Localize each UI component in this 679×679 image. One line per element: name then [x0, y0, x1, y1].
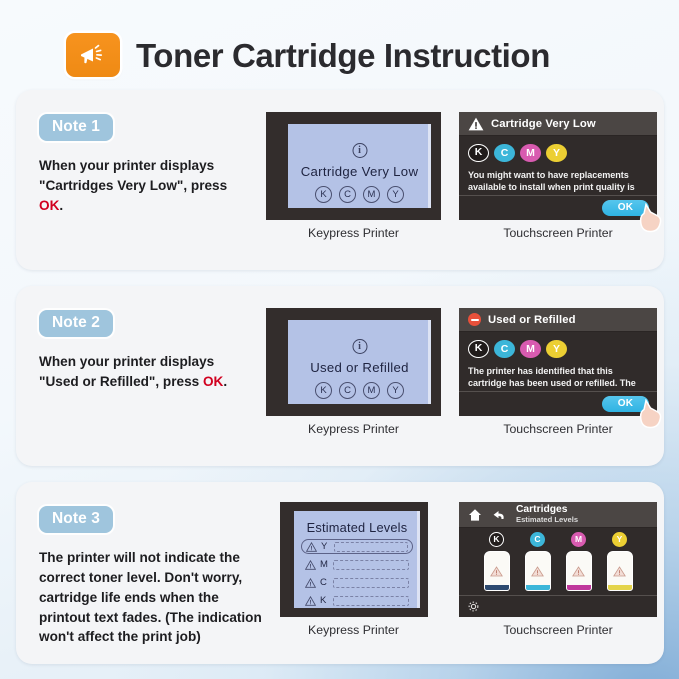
touchscreen-printer-display-1: Cartridge Very Low K C M Y You might wan…	[459, 112, 657, 220]
lcd-chip-m: M	[363, 186, 380, 203]
cartridge-body-k	[484, 551, 510, 591]
caption-keypress-1: Keypress Printer	[266, 226, 441, 240]
level-row-y[interactable]: Y	[301, 539, 413, 554]
cartridge-y[interactable]: Y	[605, 532, 635, 591]
oval-m: M	[520, 144, 541, 162]
warning-triangle-icon	[305, 596, 316, 606]
cartridge-fill-y	[608, 585, 632, 590]
warning-triangle-icon	[305, 578, 316, 588]
lcd-title-2: Used or Refilled	[288, 360, 431, 375]
touchscreen-header-3: Cartridges Estimated Levels	[459, 502, 657, 528]
touchscreen-color-ovals-2: K C M Y	[468, 340, 648, 358]
warning-triangle-icon	[305, 560, 316, 570]
cartridge-dot-c: C	[530, 532, 545, 547]
lcd-screen-2: i Used or Refilled K C M Y	[288, 320, 431, 404]
touchscreen-footer-3	[459, 595, 657, 617]
note-2-text-tail: .	[223, 374, 227, 389]
touchscreen-printer-display-3: Cartridges Estimated Levels K C	[459, 502, 657, 617]
touchscreen-footer-2: OK	[459, 391, 657, 416]
cartridge-fill-m	[567, 585, 591, 590]
lcd-title-1: Cartridge Very Low	[288, 164, 431, 179]
note-1-text-column: Note 1 When your printer displays "Cartr…	[39, 114, 255, 216]
ok-button-2[interactable]: OK	[602, 396, 649, 412]
caption-touchscreen-3: Touchscreen Printer	[459, 623, 657, 637]
lcd-levels-list: Y M	[301, 539, 413, 611]
note-2-description: When your printer displays "Used or Refi…	[39, 352, 255, 392]
lcd-color-chips-1: K C M Y	[288, 186, 431, 203]
info-icon: i	[352, 143, 367, 158]
page-header: Toner Cartridge Instruction	[0, 0, 679, 88]
cartridge-c[interactable]: C	[523, 532, 553, 591]
touchscreen-footer-1: OK	[459, 195, 657, 220]
warning-triangle-icon	[531, 566, 544, 577]
info-icon: i	[352, 339, 367, 354]
level-row-k[interactable]: K	[301, 593, 413, 608]
note-1-description: When your printer displays "Cartridges V…	[39, 156, 255, 216]
keypress-printer-display-2: i Used or Refilled K C M Y	[266, 308, 441, 416]
lcd-chip-c: C	[339, 186, 356, 203]
oval-k: K	[468, 144, 489, 162]
lcd-chip-k: K	[315, 186, 332, 203]
note-1-text-tail: .	[59, 198, 63, 213]
home-icon[interactable]	[468, 508, 482, 522]
level-bar-y	[334, 542, 408, 552]
lcd-chip-m: M	[363, 382, 380, 399]
touchscreen-title-2: Used or Refilled	[488, 314, 576, 326]
lcd-levels-title: Estimated Levels	[294, 520, 420, 535]
note-badge-3: Note 3	[39, 506, 113, 533]
gear-icon[interactable]	[467, 600, 480, 613]
lcd-chip-y: Y	[387, 382, 404, 399]
note-card-1: Note 1 When your printer displays "Cartr…	[16, 90, 664, 270]
touchscreen-header-2: Used or Refilled	[459, 308, 657, 332]
note-2-text-main: When your printer displays "Used or Refi…	[39, 354, 214, 389]
caption-touchscreen-2: Touchscreen Printer	[459, 422, 657, 436]
note-1-text-main: When your printer displays "Cartridges V…	[39, 158, 227, 193]
level-bar-m	[333, 560, 409, 570]
level-bar-c	[333, 578, 409, 588]
note-2-text-column: Note 2 When your printer displays "Used …	[39, 310, 255, 392]
megaphone-icon	[66, 33, 120, 77]
caption-touchscreen-1: Touchscreen Printer	[459, 226, 657, 240]
lcd-screen-1: i Cartridge Very Low K C M Y	[288, 124, 431, 208]
touchscreen-header-1: Cartridge Very Low	[459, 112, 657, 136]
touchscreen-color-ovals-1: K C M Y	[468, 144, 648, 162]
oval-c: C	[494, 144, 515, 162]
cartridge-k[interactable]: K	[482, 532, 512, 591]
keypress-printer-display-1: i Cartridge Very Low K C M Y	[266, 112, 441, 220]
lcd-screen-3: Estimated Levels Y	[294, 511, 420, 608]
warning-triangle-icon	[572, 566, 585, 577]
cartridge-list: K C	[459, 532, 657, 591]
note-3-description: The printer will not indicate the correc…	[39, 548, 267, 647]
level-letter-c: C	[320, 577, 329, 588]
warning-triangle-icon	[468, 117, 484, 131]
touchscreen-3-titles: Cartridges Estimated Levels	[516, 505, 578, 524]
lcd-chip-y: Y	[387, 186, 404, 203]
cartridge-dot-m: M	[571, 532, 586, 547]
lcd-chip-c: C	[339, 382, 356, 399]
caption-keypress-3: Keypress Printer	[266, 623, 441, 637]
circle-minus-icon	[468, 313, 481, 326]
cartridge-body-y	[607, 551, 633, 591]
note-3-text-column: Note 3 The printer will not indicate the…	[39, 506, 267, 647]
level-bar-k	[333, 596, 409, 606]
note-card-2: Note 2 When your printer displays "Used …	[16, 286, 664, 466]
level-letter-y: Y	[321, 541, 330, 552]
lcd-color-chips-2: K C M Y	[288, 382, 431, 399]
note-1-ok-keyword: OK	[39, 198, 59, 213]
touchscreen-3-subtitle: Estimated Levels	[516, 516, 578, 524]
level-row-m[interactable]: M	[301, 557, 413, 572]
keypress-printer-display-3: Estimated Levels Y	[280, 502, 428, 617]
page-title: Toner Cartridge Instruction	[136, 39, 550, 72]
ok-button-1[interactable]: OK	[602, 200, 649, 216]
cartridge-dot-k: K	[489, 532, 504, 547]
note-2-ok-keyword: OK	[203, 374, 223, 389]
oval-y: Y	[546, 144, 567, 162]
oval-y: Y	[546, 340, 567, 358]
level-letter-m: M	[320, 559, 329, 570]
warning-triangle-icon	[306, 542, 317, 552]
oval-k: K	[468, 340, 489, 358]
lcd-chip-k: K	[315, 382, 332, 399]
cartridge-fill-k	[485, 585, 509, 590]
note-badge-2: Note 2	[39, 310, 113, 337]
oval-m: M	[520, 340, 541, 358]
note-card-3: Note 3 The printer will not indicate the…	[16, 482, 664, 664]
cartridge-dot-y: Y	[612, 532, 627, 547]
touchscreen-title-1: Cartridge Very Low	[491, 118, 596, 130]
cartridge-body-m	[566, 551, 592, 591]
level-letter-k: K	[320, 595, 329, 606]
oval-c: C	[494, 340, 515, 358]
level-row-c[interactable]: C	[301, 575, 413, 590]
back-arrow-icon[interactable]	[492, 508, 506, 522]
cartridge-m[interactable]: M	[564, 532, 594, 591]
warning-triangle-icon	[613, 566, 626, 577]
warning-triangle-icon	[490, 566, 503, 577]
caption-keypress-2: Keypress Printer	[266, 422, 441, 436]
cartridge-body-c	[525, 551, 551, 591]
touchscreen-printer-display-2: Used or Refilled K C M Y The printer has…	[459, 308, 657, 416]
cartridge-fill-c	[526, 585, 550, 590]
note-badge-1: Note 1	[39, 114, 113, 141]
